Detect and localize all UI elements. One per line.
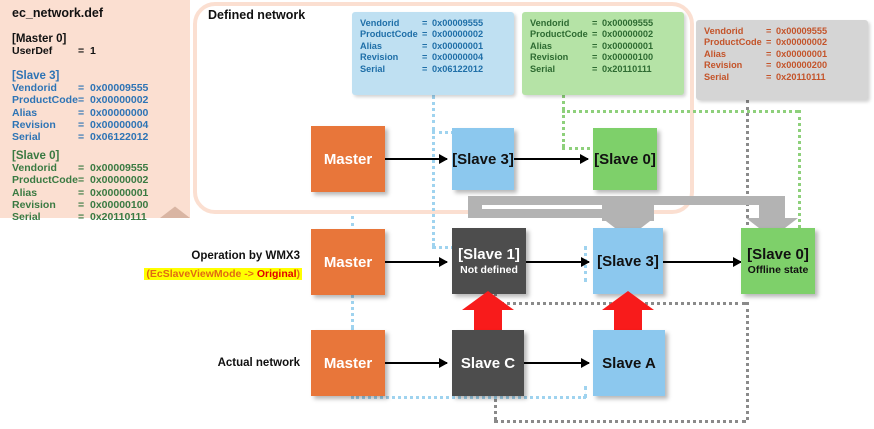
info-row: Revision=0x00000004	[360, 52, 506, 63]
info-row: Serial=0x20110111	[704, 72, 860, 83]
def-block-header: [Slave 0]	[12, 150, 148, 162]
info-row-eq: =	[422, 18, 432, 29]
info-row-value: 0x00000200	[776, 60, 827, 70]
def-row-value: 0x00000100	[90, 199, 148, 211]
info-row-eq: =	[766, 49, 776, 60]
info-row-value: 0x00009555	[432, 18, 483, 28]
node-title: Slave A	[602, 355, 656, 372]
operation-row-label: Operation by WMX3	[130, 250, 300, 262]
info-row-value: 0x00000002	[432, 29, 483, 39]
info-row: Vendorid=0x00009555	[530, 18, 676, 29]
info-row-value: 0x20110111	[776, 72, 826, 82]
info-row-eq: =	[592, 41, 602, 52]
red-up-arrow-head-left	[462, 291, 514, 310]
def-row-eq: =	[78, 187, 90, 199]
def-row-eq: =	[78, 174, 90, 186]
def-row-eq: =	[78, 119, 90, 131]
info-box-actual-slavea: Vendorid=0x00009555 ProductCode=0x000000…	[696, 20, 868, 100]
arrow-defined-slave3-to-slave0	[514, 158, 588, 160]
node-operation-slave1[interactable]: [Slave 1] Not defined	[452, 228, 526, 294]
def-row-eq: =	[78, 94, 90, 106]
info-row-key: Vendorid	[704, 26, 766, 37]
guide-line-green	[798, 110, 801, 235]
red-up-arrow-head-right	[602, 291, 654, 310]
def-row-key: Serial	[12, 211, 78, 223]
def-row-key: Serial	[12, 131, 78, 143]
info-row: Revision=0x00000100	[530, 52, 676, 63]
info-row: ProductCode=0x00000002	[360, 29, 506, 40]
node-title: Master	[324, 151, 372, 168]
arrow-operation-slave1-to-slave3	[526, 261, 589, 263]
info-row-key: Alias	[530, 41, 592, 52]
def-row-value: 1	[90, 45, 96, 57]
info-row-eq: =	[766, 37, 776, 48]
info-row-key: Alias	[360, 41, 422, 52]
def-row-key: Vendorid	[12, 162, 78, 174]
info-row-key: ProductCode	[704, 37, 766, 48]
info-row: Vendorid=0x00009555	[704, 26, 860, 37]
guide-line-blue	[584, 386, 587, 398]
info-row-value: 0x20110111	[602, 64, 652, 74]
def-row-key: Vendorid	[12, 82, 78, 94]
arrow-actual-slavec-to-slavea	[524, 362, 589, 364]
def-row-key: Revision	[12, 119, 78, 131]
arrow-actual-master-to-slavec	[385, 362, 447, 364]
info-row-eq: =	[766, 72, 776, 83]
info-row: Alias=0x00000001	[360, 41, 506, 52]
def-row-key: Alias	[12, 187, 78, 199]
info-row-eq: =	[592, 18, 602, 29]
info-row-value: 0x00000001	[432, 41, 483, 51]
def-row-eq: =	[78, 131, 90, 143]
info-row-value: 0x00000100	[602, 52, 653, 62]
def-row: Vendorid = 0x00009555	[12, 162, 148, 174]
node-title: Master	[324, 355, 372, 372]
info-row: Serial=0x20110111	[530, 64, 676, 75]
info-row-eq: =	[592, 29, 602, 40]
def-row-eq: =	[78, 45, 90, 57]
def-row: ProductCode = 0x00000002	[12, 94, 148, 106]
info-row-eq: =	[422, 64, 432, 75]
def-row: Vendorid = 0x00009555	[12, 82, 148, 94]
def-block-header: [Master 0]	[12, 33, 96, 45]
def-row-key: Alias	[12, 107, 78, 119]
def-row-key: ProductCode	[12, 94, 78, 106]
info-row: Alias=0x00000001	[704, 49, 860, 60]
node-actual-master[interactable]: Master	[311, 330, 385, 396]
info-row-key: Serial	[530, 64, 592, 75]
info-row: Vendorid=0x00009555	[360, 18, 506, 29]
node-actual-slavec[interactable]: Slave C	[452, 330, 524, 396]
def-row-value: 0x00000002	[90, 174, 148, 186]
def-row: Alias = 0x00000000	[12, 107, 148, 119]
node-actual-slavea[interactable]: Slave A	[593, 330, 665, 396]
info-box-slave3-defined: Vendorid=0x00009555 ProductCode=0x000000…	[352, 12, 514, 95]
guide-line-blue	[351, 396, 586, 399]
info-row-value: 0x06122012	[432, 64, 483, 74]
node-subtitle: Not defined	[460, 264, 518, 276]
def-row-eq: =	[78, 82, 90, 94]
info-row-value: 0x00009555	[602, 18, 653, 28]
gray-transition-stem	[759, 196, 785, 220]
info-row-key: Serial	[704, 72, 766, 83]
def-row-eq: =	[78, 162, 90, 174]
red-up-arrow-stem-left	[474, 310, 502, 332]
gray-transition-bar	[468, 196, 628, 205]
def-row: Revision = 0x00000004	[12, 119, 148, 131]
def-row: Revision = 0x00000100	[12, 199, 148, 211]
info-row-key: Revision	[360, 52, 422, 63]
node-title: Master	[324, 254, 372, 271]
def-row-value: 0x06122012	[90, 131, 148, 143]
actual-row-label: Actual network	[140, 357, 300, 369]
info-row-value: 0x00009555	[776, 26, 827, 36]
node-title: [Slave 1]	[458, 246, 520, 263]
info-row-eq: =	[592, 64, 602, 75]
guide-line-gray	[494, 420, 746, 423]
node-operation-master[interactable]: Master	[311, 229, 385, 295]
guide-line-green	[562, 95, 565, 110]
operation-mode-highlight: (EcSlaveViewMode -> Original)	[144, 268, 302, 280]
gray-transition-stem	[468, 200, 482, 218]
info-row-key: ProductCode	[530, 29, 592, 40]
operation-mode-suffix: )	[297, 268, 301, 280]
node-title: [Slave 3]	[597, 253, 659, 270]
info-row-value: 0x00000002	[776, 37, 827, 47]
guide-line-green	[562, 110, 798, 113]
info-row-eq: =	[592, 52, 602, 63]
def-block-header: [Slave 3]	[12, 70, 148, 82]
guide-line-gray	[746, 100, 749, 225]
operation-mode-strong: Original	[257, 268, 297, 280]
def-row-value: 0x00000001	[90, 187, 148, 199]
node-title: [Slave 0]	[594, 151, 656, 168]
info-row: Serial=0x06122012	[360, 64, 506, 75]
arrow-operation-slave3-to-slave0	[663, 261, 741, 263]
def-row-eq: =	[78, 107, 90, 119]
def-row: Alias = 0x00000001	[12, 187, 148, 199]
operation-mode-badge: (EcSlaveViewMode -> Original)	[130, 264, 302, 282]
info-row-key: Vendorid	[530, 18, 592, 29]
info-row-eq: =	[422, 41, 432, 52]
def-row-value: 0x00000002	[90, 94, 148, 106]
defined-network-label: Defined network	[208, 8, 305, 22]
info-row-key: Vendorid	[360, 18, 422, 29]
guide-line-blue	[432, 131, 435, 246]
info-row-eq: =	[766, 60, 776, 71]
node-subtitle: Offline state	[748, 264, 809, 276]
def-row-key: Revision	[12, 199, 78, 211]
def-row-key: ProductCode	[12, 174, 78, 186]
arrow-operation-master-to-slave1	[385, 261, 447, 263]
guide-line-gray	[746, 302, 749, 420]
info-row: Alias=0x00000001	[530, 41, 676, 52]
info-row-key: Alias	[704, 49, 766, 60]
node-defined-master[interactable]: Master	[311, 126, 385, 192]
info-row-value: 0x00000001	[776, 49, 827, 59]
info-row: Revision=0x00000200	[704, 60, 860, 71]
def-row: UserDef = 1	[12, 45, 96, 57]
def-block-slave3: [Slave 3] Vendorid = 0x00009555 ProductC…	[12, 70, 148, 143]
def-row-value: 0x00009555	[90, 162, 148, 174]
node-title: [Slave 0]	[747, 246, 809, 263]
def-block-master0: [Master 0] UserDef = 1	[12, 33, 96, 57]
def-row-eq: =	[78, 211, 90, 223]
def-row-key: UserDef	[12, 45, 78, 57]
def-row: Serial = 0x06122012	[12, 131, 148, 143]
def-row: Serial = 0x20110111	[12, 211, 148, 223]
def-row-eq: =	[78, 199, 90, 211]
guide-line-green	[562, 110, 565, 147]
def-file-fold	[160, 195, 190, 218]
def-row-value: 0x00000004	[90, 119, 148, 131]
node-title: [Slave 3]	[452, 151, 514, 168]
info-row-key: Revision	[530, 52, 592, 63]
red-up-arrow-stem-right	[614, 310, 642, 332]
node-defined-slave3[interactable]: [Slave 3]	[452, 128, 514, 190]
info-row: ProductCode=0x00000002	[530, 29, 676, 40]
info-row-key: Revision	[704, 60, 766, 71]
info-row-eq: =	[422, 52, 432, 63]
info-row-key: ProductCode	[360, 29, 422, 40]
guide-line-blue	[432, 95, 435, 131]
def-block-slave0: [Slave 0] Vendorid = 0x00009555 ProductC…	[12, 150, 148, 223]
operation-mode-prefix: (EcSlaveViewMode ->	[146, 268, 256, 280]
def-row: ProductCode = 0x00000002	[12, 174, 148, 186]
info-row-key: Serial	[360, 64, 422, 75]
def-row-value: 0x00000000	[90, 107, 148, 119]
def-row-value: 0x20110111	[90, 211, 147, 223]
arrow-defined-master-to-slave3	[385, 158, 447, 160]
node-title: Slave C	[461, 355, 515, 372]
info-row-value: 0x00000004	[432, 52, 483, 62]
info-row-eq: =	[766, 26, 776, 37]
info-row-eq: =	[422, 29, 432, 40]
info-box-slave0-defined: Vendorid=0x00009555 ProductCode=0x000000…	[522, 12, 684, 95]
info-row: ProductCode=0x00000002	[704, 37, 860, 48]
def-row-value: 0x00009555	[90, 82, 148, 94]
node-operation-slave3[interactable]: [Slave 3]	[593, 228, 663, 294]
def-file-title: ec_network.def	[12, 6, 103, 20]
info-row-value: 0x00000001	[602, 41, 653, 51]
info-row-value: 0x00000002	[602, 29, 653, 39]
node-operation-slave0[interactable]: [Slave 0] Offline state	[741, 228, 815, 294]
node-defined-slave0[interactable]: [Slave 0]	[593, 128, 657, 190]
